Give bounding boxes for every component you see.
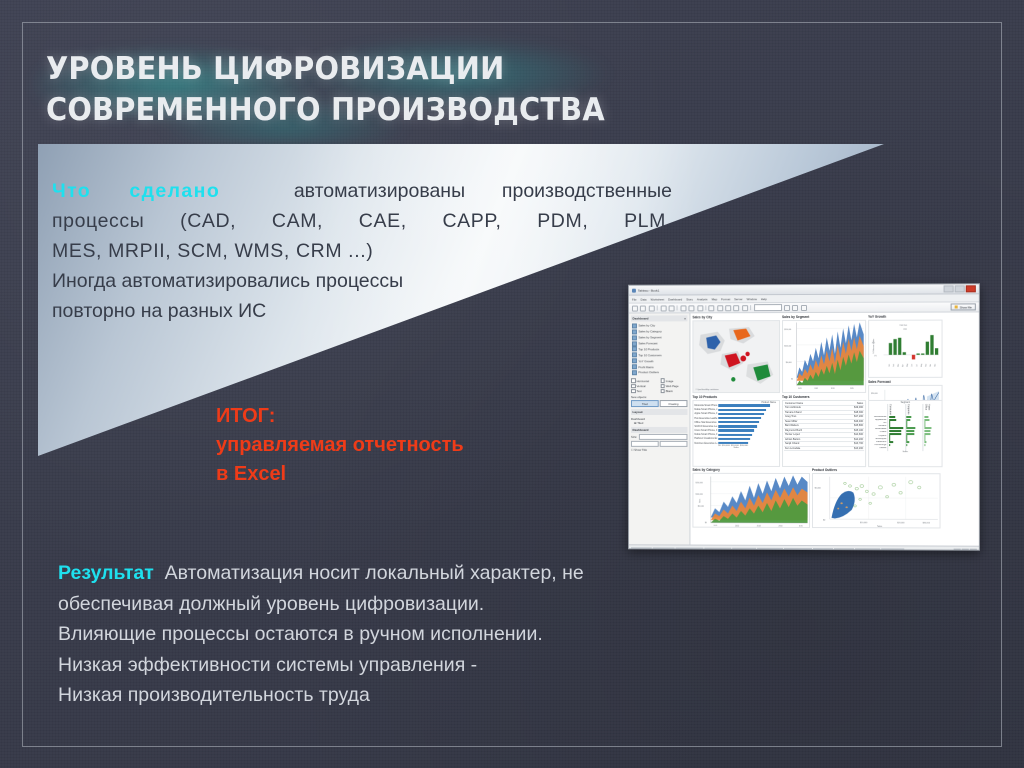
pane-title-top-10-products: Top 10 Products [692, 395, 780, 399]
svg-text:$100,000: $100,000 [784, 345, 791, 347]
clear-sheet-icon[interactable] [697, 305, 703, 311]
svg-text:$0: $0 [791, 378, 793, 380]
pane-title-sales-by-city: Sales by City [692, 315, 780, 319]
canvas-row-top: Sales by City [692, 314, 976, 393]
table-row: Ken Lonsdale$13,200 [784, 446, 864, 451]
canvas-col-right-top: YoY Growth Order Date 2014 [868, 315, 942, 393]
map-chart[interactable]: © OpenStreetMap contributors [692, 320, 780, 393]
what-was-done-line4: Иногда автоматизировались процессы [52, 266, 672, 296]
svg-text:Apr: Apr [901, 364, 904, 367]
tab-sales-by-city[interactable]: Sales by City [653, 547, 674, 551]
pane-sales-by-segment[interactable]: Sales by Segment [782, 315, 866, 393]
what-was-done-line3: MES, MRPII, SCM, WMS, CRM ...) [52, 236, 672, 266]
minimize-icon[interactable] [944, 285, 954, 292]
dashboard-sidebar: Dashboard « Sales by City Sales by Categ… [629, 313, 690, 544]
undo-icon[interactable] [640, 305, 646, 311]
svg-text:2012: 2012 [814, 388, 818, 390]
top-products-bars[interactable]: Product Name Motorola Smart Phone, Full.… [692, 400, 780, 467]
menu-dashboard[interactable]: Dashboard [668, 297, 682, 301]
svg-text:Feb: Feb [893, 364, 895, 367]
refresh-icon[interactable] [669, 305, 675, 311]
svg-text:2014: 2014 [779, 525, 783, 527]
slide: УРОВЕНЬ ЦИФРОВИЗАЦИИ СОВРЕМЕННОГО ПРОИЗВ… [0, 0, 1024, 768]
svg-text:$30,000: $30,000 [923, 523, 930, 525]
profit-matrix-col-home-office: Home Office [923, 403, 941, 450]
maximize-icon[interactable] [955, 285, 965, 292]
svg-text:$0: $0 [823, 520, 825, 522]
size-dropdown[interactable] [639, 434, 688, 440]
svg-text:Jun: Jun [912, 364, 914, 367]
sort-descending-icon[interactable] [725, 305, 731, 311]
menu-story[interactable]: Story [686, 297, 693, 301]
itog-line2: управляемая отчетность [216, 431, 646, 460]
pane-sales-by-category[interactable]: Sales by Category [692, 468, 810, 528]
product-outliers-chart[interactable]: $0 $10,000 $20,000 $30,000 $5,000 Sales [812, 473, 941, 528]
svg-text:$5,000: $5,000 [815, 488, 821, 490]
fit-dropdown[interactable] [754, 304, 782, 311]
svg-text:$0: $0 [705, 522, 707, 524]
sheet-icon [632, 323, 637, 328]
save-icon[interactable] [632, 305, 638, 311]
size-row: Size: [631, 434, 687, 440]
toolbar-separator [750, 305, 751, 310]
sheet-icon [632, 353, 637, 358]
new-data-source-icon[interactable] [660, 305, 666, 311]
toolbar-separator [677, 305, 678, 310]
option-text[interactable]: Text [631, 389, 658, 394]
result-line3: Влияющие процессы остаются в ручном испо… [58, 619, 898, 650]
svg-text:2011: 2011 [714, 525, 718, 527]
sidebar-item-product-outliers[interactable]: Product Outliers [631, 370, 687, 376]
horizontal-icon [631, 379, 636, 384]
result-line1: Автоматизация носит локальный характер, … [165, 562, 584, 584]
new-worksheet-icon[interactable] [680, 305, 686, 311]
svg-text:$150,000: $150,000 [784, 329, 791, 331]
duplicate-icon[interactable] [689, 305, 695, 311]
svg-text:Order Date: Order Date [899, 324, 907, 327]
itog-line3: в Excel [216, 460, 646, 489]
tab-sales-by-category[interactable]: Sales by Category [675, 547, 703, 550]
menu-analysis[interactable]: Analysis [697, 297, 708, 301]
layout-item-tiled[interactable]: ⊞ Tiled [631, 421, 687, 425]
pane-title-sales-forecast: Sales Forecast [868, 380, 942, 384]
menu-worksheet[interactable]: Worksheet [651, 297, 665, 301]
pane-top-10-customers[interactable]: Top 10 Customers Customer NameSales Tom … [782, 394, 866, 466]
window-title: Tableau - Book1 [638, 288, 659, 292]
bar-chart-svg: Order Date 2014 [869, 321, 941, 378]
pane-title-sales-by-segment: Sales by Segment [782, 315, 866, 319]
sort-ascending-icon[interactable] [717, 305, 723, 311]
labels-icon[interactable] [742, 305, 748, 311]
svg-text:$150,000: $150,000 [696, 482, 703, 484]
what-was-done-line1: автоматизированы производственные [294, 180, 672, 202]
sheet-icon [632, 341, 637, 346]
area-chart-svg: $150,000 $100,000 $50,000 $0 Sales 2011 … [693, 474, 809, 527]
block-result: Результат Автоматизация носит локальный … [58, 558, 898, 711]
pane-sales-by-city[interactable]: Sales by City [692, 315, 780, 393]
blank-icon [660, 389, 665, 394]
group-icon[interactable] [734, 305, 740, 311]
svg-text:Sep: Sep [925, 364, 927, 367]
app-body: Dashboard « Sales by City Sales by Categ… [629, 312, 979, 545]
image-icon [660, 379, 665, 384]
fix-axes-icon[interactable] [784, 305, 790, 311]
option-image[interactable]: Image [660, 379, 687, 384]
svg-text:Sales: Sales [700, 499, 702, 503]
page-title: УРОВЕНЬ ЦИФРОВИЗАЦИИ СОВРЕМЕННОГО ПРОИЗВ… [46, 49, 697, 131]
tab-data-source[interactable]: Data Source [631, 547, 652, 551]
profit-matrix-col-consumer: Consumer [887, 403, 905, 450]
canvas-row-middle: Top 10 Products Product Name Motorola Sm… [692, 394, 976, 466]
dashboard-canvas: Sales by City [690, 312, 978, 545]
result-line5: Низкая производительность труда [58, 680, 898, 711]
tab-sales-forecast[interactable]: Sales Forecast [733, 548, 757, 551]
svg-text:2014: 2014 [757, 525, 761, 527]
height-input[interactable] [660, 441, 688, 447]
svg-text:2013: 2013 [831, 388, 835, 390]
redo-icon[interactable] [649, 305, 655, 311]
tab-top-10-customers[interactable]: Top 10 Customers [784, 548, 812, 551]
tableau-dashboard-screenshot: Tableau - Book1 File Data Worksheet Dash… [628, 283, 980, 550]
tab-product-outliers[interactable]: Product Outliers [855, 548, 880, 551]
web-page-icon [660, 384, 665, 389]
result-line4: Низкая эффективности системы управления … [58, 650, 898, 681]
pane-title-product-outliers: Product Outliers [812, 468, 941, 472]
swap-axes-icon[interactable] [709, 305, 715, 311]
object-options: Horizontal Image Vertical Web Page Text … [631, 379, 687, 394]
svg-text:$150,000: $150,000 [871, 393, 878, 395]
layout-header: Layout [631, 409, 687, 415]
what-was-done-line5: повторно на разных ИС [52, 296, 672, 326]
menu-file[interactable]: File [632, 297, 637, 301]
size-label: Size: [631, 435, 637, 439]
new-objects-label: New objects: [631, 395, 687, 399]
svg-text:Aug: Aug [920, 364, 923, 367]
option-web-page[interactable]: Web Page [660, 384, 687, 389]
sales-by-category-chart[interactable]: $150,000 $100,000 $50,000 $0 Sales 2011 … [692, 473, 810, 528]
svg-text:$100,000: $100,000 [696, 494, 703, 496]
menu-window[interactable]: Window [747, 297, 757, 301]
svg-text:0%: 0% [874, 355, 877, 357]
yoy-growth-chart[interactable]: Order Date 2014 [868, 320, 942, 379]
menu-server[interactable]: Server [734, 297, 742, 301]
toolbar-separator [705, 305, 706, 310]
option-horizontal[interactable]: Horizontal [631, 379, 658, 384]
svg-text:$20,000: $20,000 [897, 522, 904, 524]
show-me-button[interactable]: Show Me [951, 303, 976, 310]
svg-text:2011: 2011 [798, 388, 802, 390]
scatter-chart-svg: $0 $10,000 $20,000 $30,000 $5,000 Sales [813, 474, 940, 527]
menu-help[interactable]: Help [761, 297, 767, 301]
vertical-icon [631, 384, 636, 389]
what-was-done-lead: Что сделано [52, 180, 220, 202]
what-was-done-line2: процессы (CAD, CAM, CAE, CAPP, PDM, PLM, [52, 206, 672, 236]
pane-title-yoy-growth: YoY Growth [868, 315, 942, 319]
sheet-icon [632, 364, 637, 369]
pane-title-top-10-customers: Top 10 Customers [782, 394, 866, 398]
option-blank[interactable]: Blank [660, 389, 687, 394]
sidebar-header: Dashboard « [631, 315, 687, 321]
block-what-was-done: Что сделано автоматизированы производств… [52, 176, 672, 326]
text-icon [631, 389, 636, 394]
svg-text:2014: 2014 [903, 329, 907, 331]
toolbar-separator [657, 306, 658, 311]
new-objects-toggle: Tiled Floating [631, 400, 687, 407]
new-story-tab-icon[interactable] [970, 548, 977, 551]
pane-yoy-growth[interactable]: YoY Growth Order Date 2014 [868, 315, 942, 379]
svg-text:Oct: Oct [929, 364, 932, 367]
sheet-icon [632, 370, 637, 375]
map-svg: © OpenStreetMap contributors [693, 321, 779, 392]
pane-profit-matrix[interactable]: Profit Matrix Segment AccessoriesApplian… [868, 394, 942, 466]
profit-matrix-chart[interactable]: Segment AccessoriesAppliancesArtBinders … [868, 399, 942, 466]
profit-matrix-col-corporate: Corporate [905, 403, 923, 450]
pane-title-sales-by-category: Sales by Category [692, 468, 810, 472]
menu-map[interactable]: Map [712, 297, 718, 301]
pane-top-10-products[interactable]: Top 10 Products Product Name Motorola Sm… [692, 395, 780, 467]
tiled-button[interactable]: Tiled [631, 400, 659, 407]
menu-format[interactable]: Format [721, 297, 730, 301]
floating-button[interactable]: Floating [660, 400, 688, 407]
layout-tree: Dashboard ⊞ Tiled [631, 417, 687, 425]
canvas-row-bottom: Sales by Category [692, 468, 976, 529]
show-title-checkbox[interactable]: ☐ Show Title [631, 448, 687, 452]
window-controls [944, 285, 976, 292]
block-itog: ИТОГ: управляемая отчетность в Excel [216, 402, 646, 489]
result-lead: Результат [58, 562, 154, 584]
width-input[interactable] [631, 441, 658, 447]
new-worksheet-tab-icon[interactable] [954, 548, 961, 551]
sheet-list: Sales by City Sales by Category Sales by… [631, 323, 687, 376]
new-dashboard-tab-icon[interactable] [962, 548, 969, 551]
svg-text:Mar: Mar [897, 363, 900, 366]
highlight-icon[interactable] [792, 305, 798, 311]
option-vertical[interactable]: Vertical [631, 384, 658, 389]
profit-matrix-row-labels: AccessoriesAppliancesArtBinders Bookcase… [870, 403, 887, 450]
svg-text:Jul: Jul [916, 364, 918, 367]
tab-top-10-products[interactable]: Top 10 Products [757, 548, 782, 551]
sales-by-segment-chart[interactable]: $150,000 $100,000 $50,000 $0 2011 2012 2… [782, 320, 866, 393]
svg-text:Nov: Nov [935, 364, 937, 367]
dashboard-panel-header: Dashboard [631, 427, 687, 433]
svg-text:Sales: Sales [877, 526, 882, 528]
tab-profit-matrix[interactable]: Profit Matrix [834, 548, 854, 551]
itog-line1: ИТОГ: [216, 402, 646, 431]
svg-text:% Difference in Sales: % Difference in Sales [872, 339, 875, 354]
tab-yoy-growth[interactable]: YoY Growth [813, 548, 833, 551]
svg-text:2015: 2015 [799, 525, 803, 527]
customers-table: Customer NameSales Tom Ashbrook$19,000 T… [784, 401, 864, 451]
tab-dashboard-1[interactable]: Dashboard 1 [882, 548, 904, 551]
svg-text:2015: 2015 [850, 388, 854, 390]
top-customers-table[interactable]: Customer NameSales Tom Ashbrook$19,000 T… [782, 399, 866, 466]
sheet-icon [632, 335, 637, 340]
presentation-mode-icon[interactable] [801, 304, 807, 310]
sheet-icon [632, 347, 637, 352]
svg-text:$10,000: $10,000 [860, 522, 867, 524]
tab-sales-by-segment[interactable]: Sales by Segment [704, 547, 732, 550]
svg-text:$50,000: $50,000 [698, 506, 704, 508]
svg-text:$50,000: $50,000 [786, 362, 792, 364]
show-me-label: Show Me [960, 305, 972, 309]
tableau-app-icon [632, 288, 636, 292]
close-icon[interactable] [966, 285, 976, 292]
menu-data[interactable]: Data [641, 297, 647, 301]
sidebar-collapse-icon[interactable]: « [684, 316, 686, 320]
pane-product-outliers[interactable]: Product Outliers [812, 468, 941, 528]
profit-matrix-grid: AccessoriesAppliancesArtBinders Bookcase… [870, 403, 940, 450]
sheet-icon [632, 329, 637, 334]
show-me-icon [955, 305, 958, 308]
svg-text:2012: 2012 [735, 525, 739, 527]
svg-text:Jan: Jan [888, 364, 890, 367]
svg-text:© OpenStreetMap contributors: © OpenStreetMap contributors [696, 388, 719, 391]
svg-text:May: May [907, 363, 909, 366]
sheet-icon [632, 358, 637, 363]
dimensions-row [631, 441, 687, 447]
area-chart-svg: $150,000 $100,000 $50,000 $0 2011 2012 2… [783, 321, 865, 392]
result-line2: обеспечивая должный уровень цифровизации… [58, 589, 898, 620]
